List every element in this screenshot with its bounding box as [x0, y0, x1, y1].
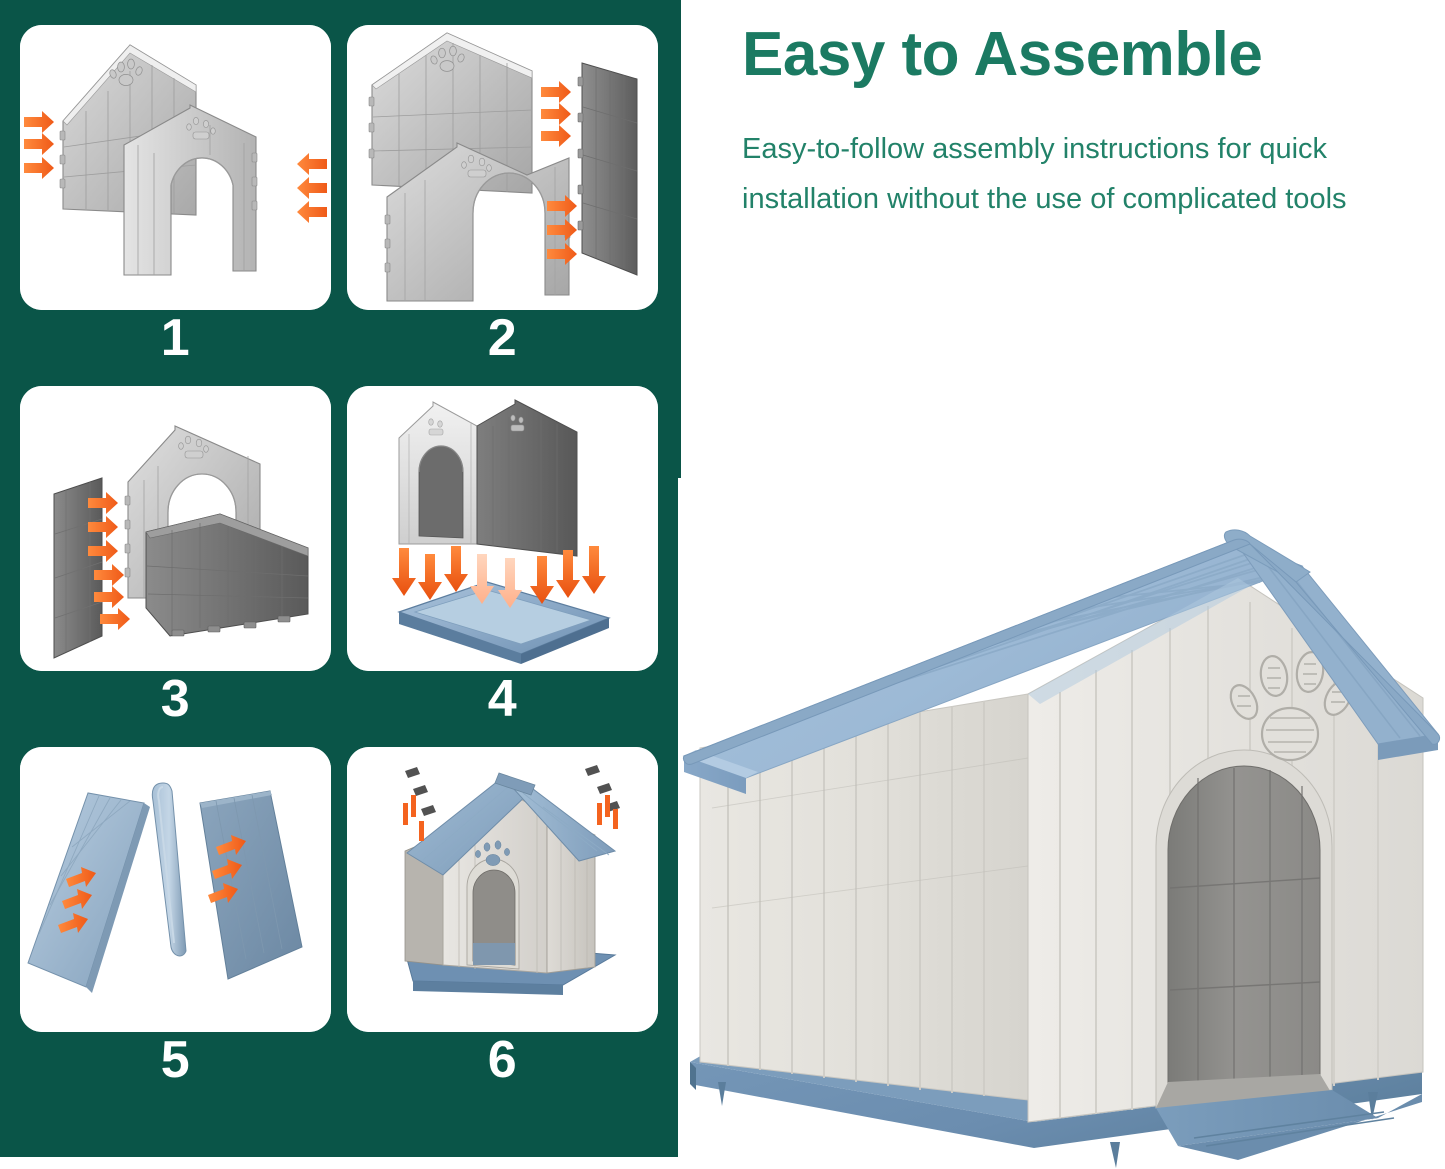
- assembly-arrows-left: [24, 111, 54, 179]
- step-card-1: [20, 25, 331, 310]
- step-number-4: 4: [347, 671, 658, 733]
- step-card-3: [20, 386, 331, 671]
- step-card-5: [20, 747, 331, 1032]
- step-number-5: 5: [20, 1032, 331, 1094]
- step-4-illustration: [347, 386, 658, 671]
- step-number-2: 2: [347, 310, 658, 372]
- step-number-3: 3: [20, 671, 331, 733]
- product-hero-image: [678, 478, 1445, 1169]
- step-1-illustration: [20, 25, 331, 310]
- step-2-illustration: [347, 25, 658, 310]
- headline-block: Easy to Assemble Easy-to-follow assembly…: [742, 22, 1402, 225]
- step-6-illustration: [347, 747, 658, 1032]
- step-cell-3: 3: [20, 386, 331, 733]
- step-cell-5: 5: [20, 747, 331, 1094]
- step-number-1: 1: [20, 310, 331, 372]
- step-card-6: [347, 747, 658, 1032]
- step-grid: 1: [20, 25, 658, 1094]
- step-card-4: [347, 386, 658, 671]
- step-cell-1: 1: [20, 25, 331, 372]
- step-cell-2: 2: [347, 25, 658, 372]
- dog-house-render: [678, 478, 1445, 1169]
- assembly-arrows-right: [297, 153, 327, 223]
- step-cell-6: 6: [347, 747, 658, 1094]
- page-title: Easy to Assemble: [742, 22, 1402, 87]
- step-number-6: 6: [347, 1032, 658, 1094]
- step-5-illustration: [20, 747, 331, 1032]
- step-card-2: [347, 25, 658, 310]
- step-3-illustration: [20, 386, 331, 671]
- step-cell-4: 4: [347, 386, 658, 733]
- page-subtitle: Easy-to-follow assembly instructions for…: [742, 87, 1402, 225]
- assembly-steps-panel: 1: [0, 0, 681, 1157]
